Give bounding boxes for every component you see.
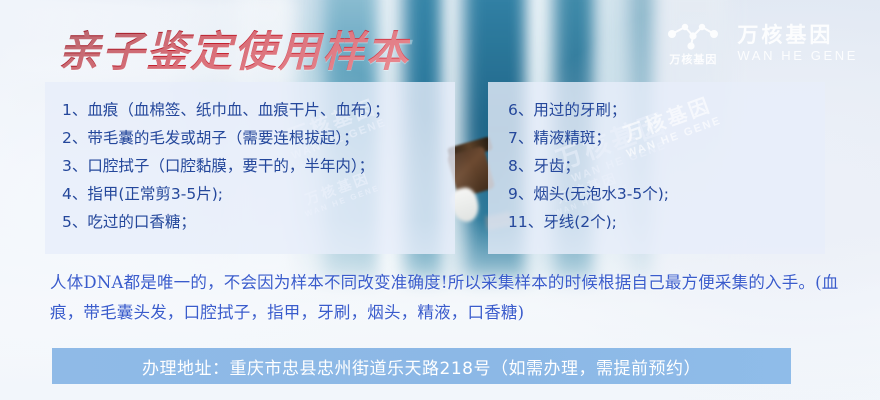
list-item: 4、指甲(正常剪3-5片); xyxy=(45,180,455,208)
sample-list-panel-left: 1、血痕（血棉签、纸巾血、血痕干片、血布）； 2、带毛囊的毛发或胡子（需要连根拔… xyxy=(45,82,455,254)
logo-mark: 万核基因 xyxy=(665,22,721,66)
list-item: 8、牙齿； xyxy=(488,152,825,180)
sample-list-panel-right: 6、用过的牙刷； 7、精液精斑； 8、牙齿； 9、烟头(无泡水3-5个); 11… xyxy=(488,82,825,254)
sample-list-right: 6、用过的牙刷； 7、精液精斑； 8、牙齿； 9、烟头(无泡水3-5个); 11… xyxy=(488,96,825,236)
list-item: 3、口腔拭子（口腔黏膜，要干的，半年内）； xyxy=(45,152,455,180)
dna-molecule-icon xyxy=(665,22,721,52)
page-title: 亲子鉴定使用样本 xyxy=(58,18,410,79)
logo-mark-label: 万核基因 xyxy=(669,55,717,66)
address-bar: 办理地址：重庆市忠县忠州街道乐天路218号（如需办理，需提前预约） xyxy=(52,348,791,384)
address-text: 办理地址：重庆市忠县忠州街道乐天路218号（如需办理，需提前预约） xyxy=(142,354,701,379)
logo-name-en: WAN HE GENE xyxy=(737,49,858,64)
note-paragraph: 人体DNA都是唯一的，不会因为样本不同改变准确度!所以采集样本的时候根据自己最方… xyxy=(50,268,840,328)
list-item: 9、烟头(无泡水3-5个); xyxy=(488,180,825,208)
list-item: 11、牙线(2个); xyxy=(488,208,825,236)
list-item: 2、带毛囊的毛发或胡子（需要连根拔起）； xyxy=(45,124,455,152)
list-item: 1、血痕（血棉签、纸巾血、血痕干片、血布）； xyxy=(45,96,455,124)
brand-logo: 万核基因 万核基因 WAN HE GENE xyxy=(665,22,858,66)
logo-wordmark: 万核基因 WAN HE GENE xyxy=(737,24,858,63)
list-item: 6、用过的牙刷； xyxy=(488,96,825,124)
list-item: 5、吃过的口香糖； xyxy=(45,208,455,236)
logo-name-cn: 万核基因 xyxy=(737,24,858,48)
poster-canvas: 万核基因 WAN HE GENE 万核基因 WAN HE GENE 万核基因 W… xyxy=(0,0,880,400)
list-item: 7、精液精斑； xyxy=(488,124,825,152)
sample-list-left: 1、血痕（血棉签、纸巾血、血痕干片、血布）； 2、带毛囊的毛发或胡子（需要连根拔… xyxy=(45,96,455,236)
